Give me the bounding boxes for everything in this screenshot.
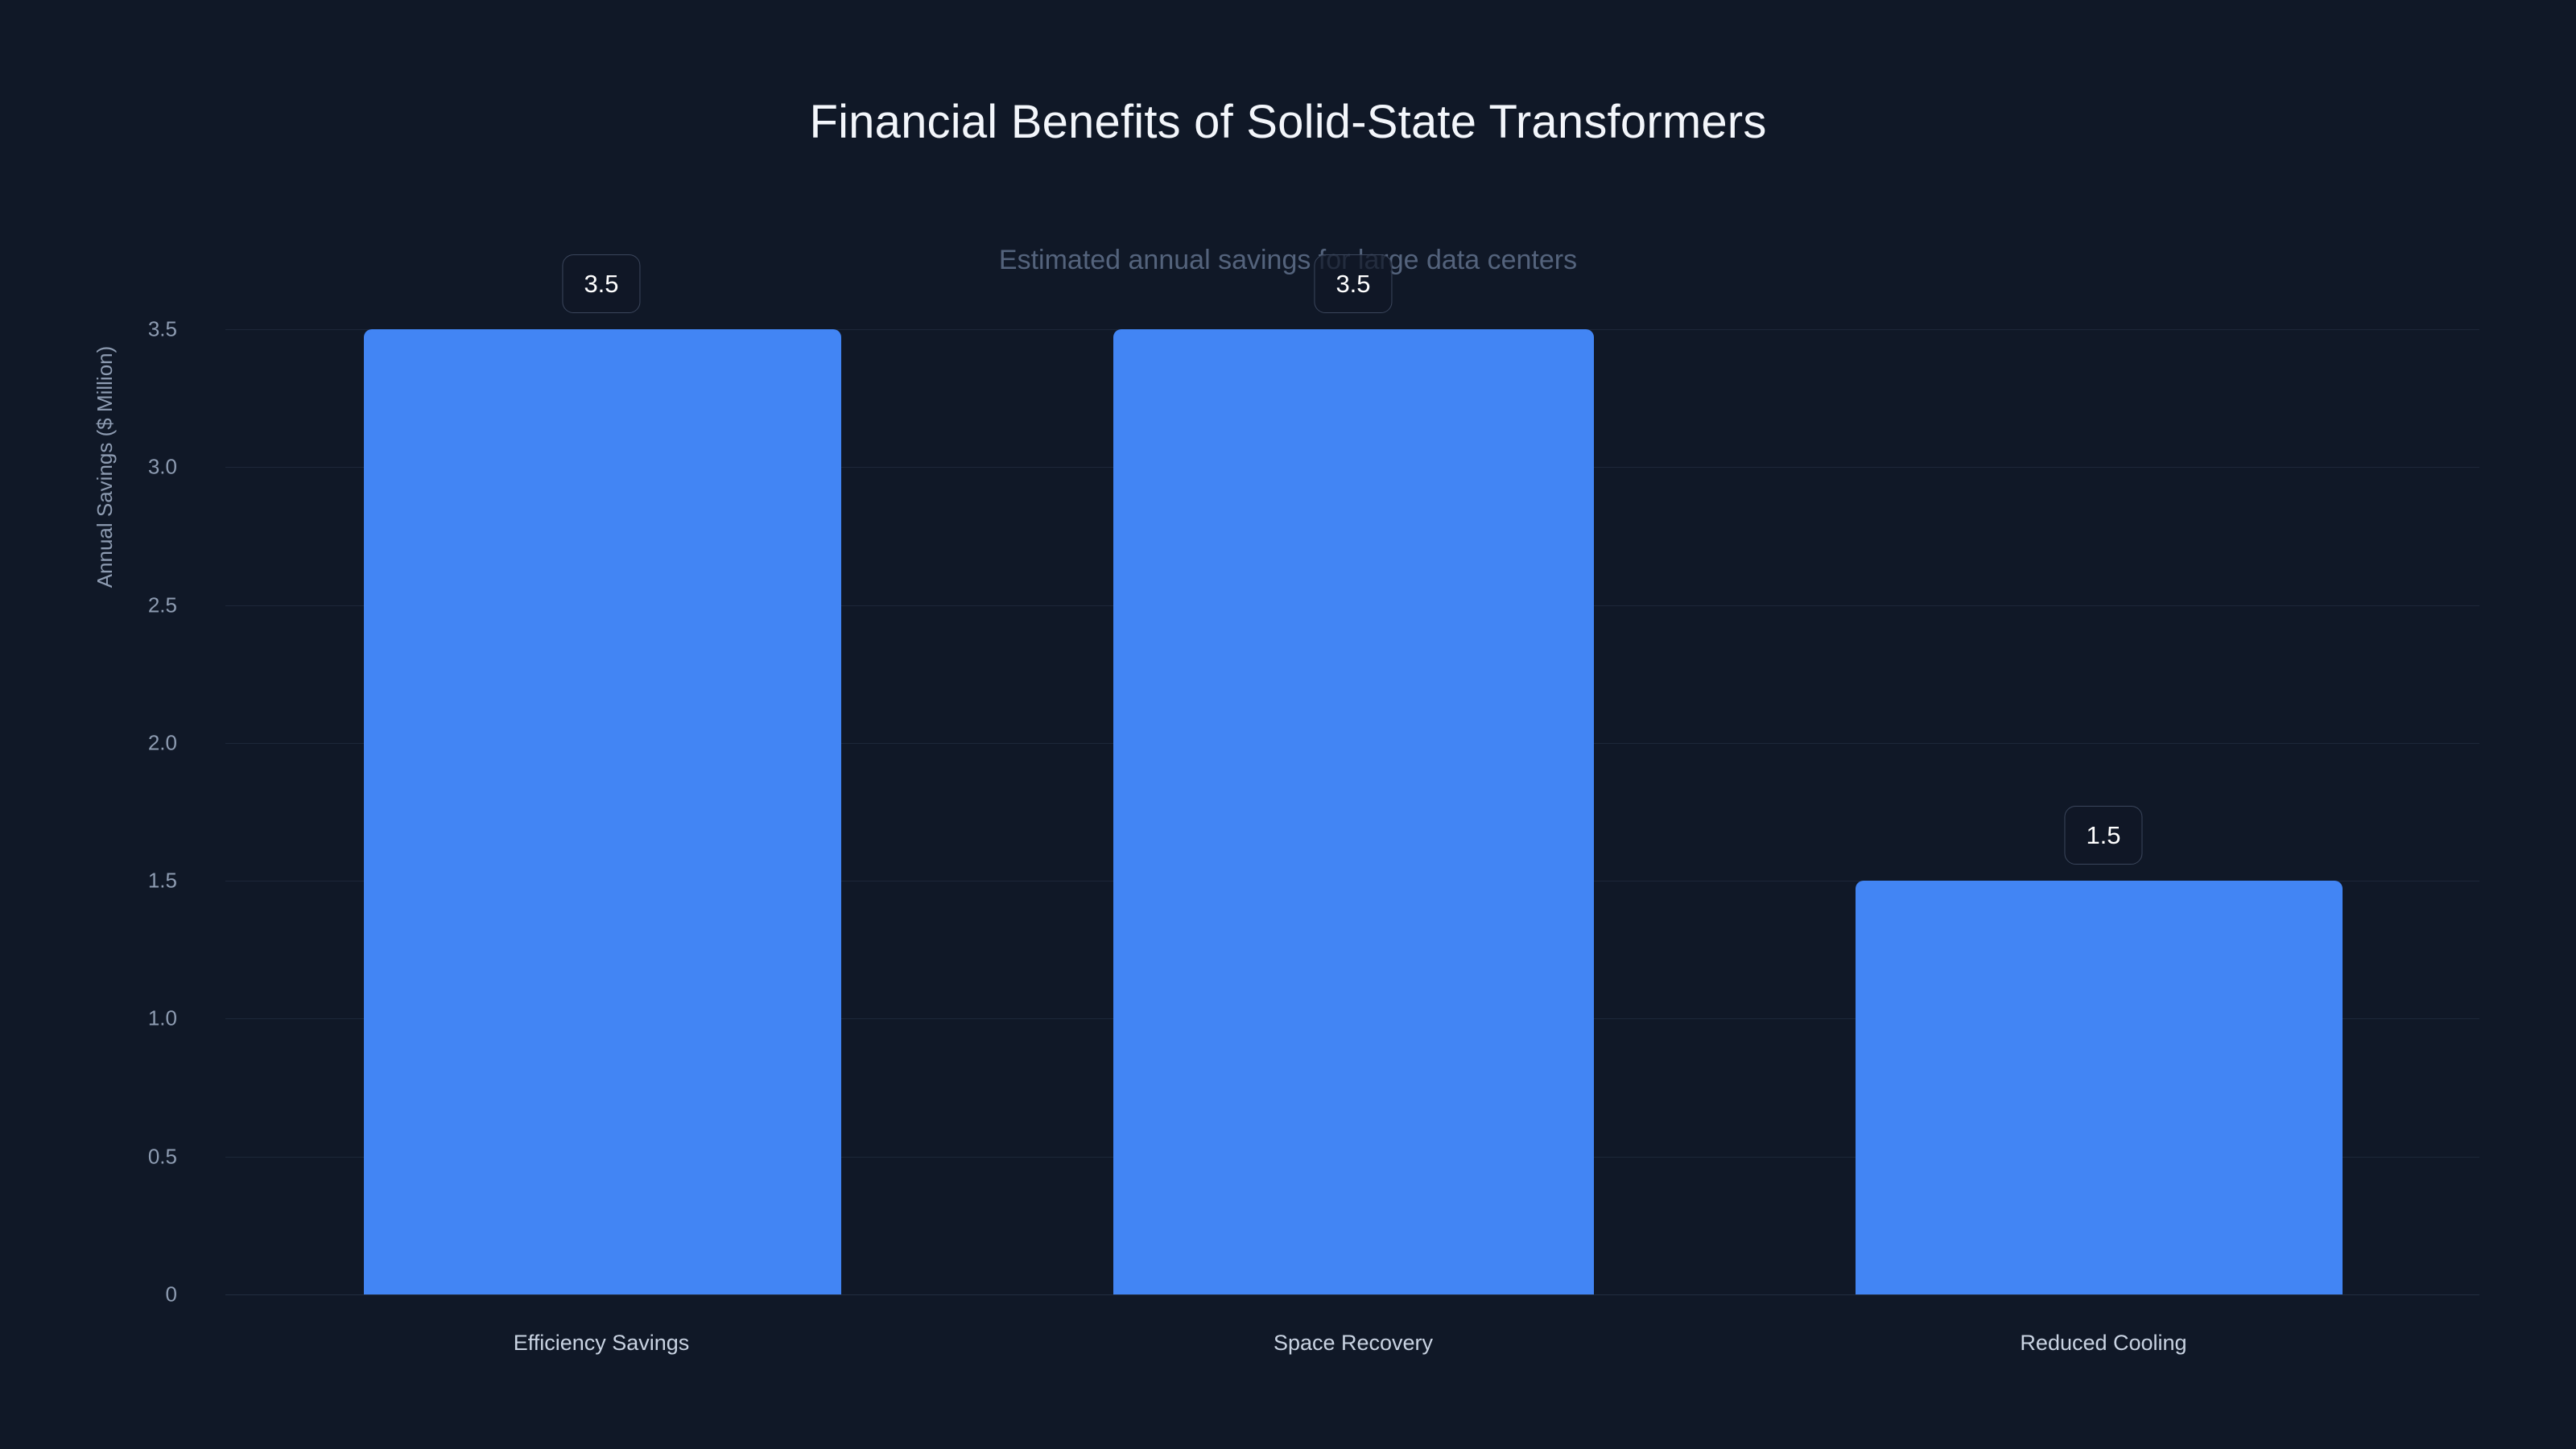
- x-category-label-efficiency-savings: Efficiency Savings: [514, 1331, 690, 1356]
- bar-chart-figure: Financial Benefits of Solid-State Transf…: [0, 0, 2576, 1449]
- y-tick-3-0: 3.0: [148, 455, 177, 480]
- bar-efficiency-savings[interactable]: [364, 329, 841, 1294]
- bar-reduced-cooling[interactable]: [1856, 881, 2343, 1294]
- y-axis-tick-labels: 3.5 3.0 2.5 2.0 1.5 1.0 0.5 0: [0, 329, 201, 1294]
- y-tick-1-5: 1.5: [148, 869, 177, 894]
- chart-subtitle: Estimated annual savings for large data …: [0, 246, 2576, 275]
- gridline-0-axis: [225, 1294, 2479, 1295]
- y-tick-0-5: 0.5: [148, 1144, 177, 1169]
- y-tick-1-0: 1.0: [148, 1006, 177, 1031]
- bar-space-recovery[interactable]: [1113, 329, 1594, 1294]
- value-badge-space-recovery: 3.5: [1314, 254, 1392, 313]
- y-tick-3-5: 3.5: [148, 317, 177, 342]
- value-badge-reduced-cooling: 1.5: [2064, 806, 2142, 865]
- y-tick-2-5: 2.5: [148, 592, 177, 617]
- y-tick-2-0: 2.0: [148, 730, 177, 755]
- y-tick-0: 0: [166, 1282, 177, 1307]
- chart-title: Financial Benefits of Solid-State Transf…: [0, 97, 2576, 148]
- x-category-label-reduced-cooling: Reduced Cooling: [2020, 1331, 2186, 1356]
- value-badge-efficiency-savings: 3.5: [562, 254, 640, 313]
- x-category-label-space-recovery: Space Recovery: [1274, 1331, 1433, 1356]
